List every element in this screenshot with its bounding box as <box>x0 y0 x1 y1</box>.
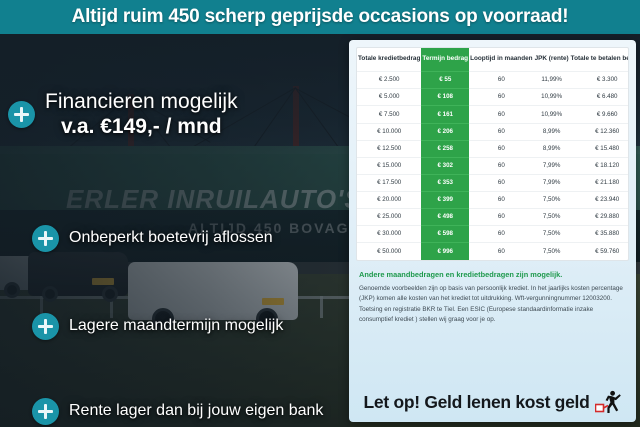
table-cell: 60 <box>469 72 533 89</box>
table-cell: € 996 <box>421 243 469 260</box>
benefits-list: Financieren mogelijk v.a. €149,- / mnd O… <box>0 68 350 427</box>
header-duration: Looptijd in maanden <box>469 48 533 72</box>
table-cell: 7,50% <box>534 192 570 209</box>
table-cell: € 25.000 <box>357 209 421 226</box>
table-cell: € 29.880 <box>570 209 629 226</box>
loan-table: Totale kredietbedrag Termijn bedrag Loop… <box>357 48 629 260</box>
table-cell: € 50.000 <box>357 243 421 260</box>
table-cell: 60 <box>469 123 533 140</box>
table-cell: € 7.500 <box>357 106 421 123</box>
header-total-credit: Totale kredietbedrag <box>357 48 421 72</box>
table-row: € 5.000€ 1086010,99%€ 6.480 <box>357 89 629 106</box>
benefit-label: Lagere maandtermijn mogelijk <box>69 317 283 336</box>
note-heading: Andere maandbedragen en kredietbedragen … <box>359 270 626 280</box>
benefit-item-lower-monthly: Lagere maandtermijn mogelijk <box>32 313 283 340</box>
loan-table-container: Totale kredietbedrag Termijn bedrag Loop… <box>356 47 629 261</box>
table-row: € 12.500€ 258608,99%€ 15.480 <box>357 140 629 157</box>
table-cell: € 2.500 <box>357 72 421 89</box>
loan-info-card: Totale kredietbedrag Termijn bedrag Loop… <box>349 40 636 422</box>
table-cell: € 20.000 <box>357 192 421 209</box>
table-row: € 7.500€ 1616010,99%€ 9.660 <box>357 106 629 123</box>
table-cell: 8,99% <box>534 140 570 157</box>
promo-banner: Altijd ruim 450 scherp geprijsde occasio… <box>0 0 640 34</box>
table-cell: € 3.300 <box>570 72 629 89</box>
table-cell: 7,99% <box>534 157 570 174</box>
table-cell: 60 <box>469 209 533 226</box>
table-cell: 11,99% <box>534 72 570 89</box>
header-total-payable: Totale te betalen bedrag <box>570 48 629 72</box>
benefit-item-lower-rate: Rente lager dan bij jouw eigen bank <box>32 398 323 425</box>
table-cell: 7,50% <box>534 209 570 226</box>
benefit-label: Rente lager dan bij jouw eigen bank <box>69 402 323 421</box>
legal-warning-text: Let op! Geld lenen kost geld <box>364 392 590 413</box>
table-cell: 60 <box>469 243 533 260</box>
legal-warning: Let op! Geld lenen kost geld <box>356 390 629 414</box>
benefit-line-1: Financieren mogelijk <box>45 90 238 115</box>
table-cell: € 6.480 <box>570 89 629 106</box>
table-cell: € 12.360 <box>570 123 629 140</box>
loan-table-head: Totale kredietbedrag Termijn bedrag Loop… <box>357 48 629 72</box>
table-cell: € 302 <box>421 157 469 174</box>
benefit-label: Financieren mogelijk v.a. €149,- / mnd <box>45 90 238 140</box>
man-pulling-block-icon <box>595 390 621 414</box>
table-cell: 60 <box>469 157 533 174</box>
table-cell: € 5.000 <box>357 89 421 106</box>
table-cell: € 12.500 <box>357 140 421 157</box>
table-cell: € 161 <box>421 106 469 123</box>
plus-icon <box>32 398 59 425</box>
table-cell: 10,99% <box>534 106 570 123</box>
table-cell: € 108 <box>421 89 469 106</box>
benefit-line-2: v.a. €149,- / mnd <box>45 115 238 140</box>
table-row: € 50.000€ 996607,50%€ 59.760 <box>357 243 629 260</box>
table-cell: € 10.000 <box>357 123 421 140</box>
table-cell: 60 <box>469 89 533 106</box>
note-body: Genoemde voorbeelden zijn op basis van p… <box>359 284 626 325</box>
table-cell: € 21.180 <box>570 174 629 191</box>
table-row: € 10.000€ 206608,99%€ 12.360 <box>357 123 629 140</box>
table-cell: € 30.000 <box>357 226 421 243</box>
table-cell: 10,99% <box>534 89 570 106</box>
table-row: € 2.500€ 556011,99%€ 3.300 <box>357 72 629 89</box>
loan-table-header-row: Totale kredietbedrag Termijn bedrag Loop… <box>357 48 629 72</box>
table-row: € 30.000€ 598607,50%€ 35.880 <box>357 226 629 243</box>
table-cell: 8,99% <box>534 123 570 140</box>
table-cell: 7,99% <box>534 174 570 191</box>
table-cell: € 15.480 <box>570 140 629 157</box>
table-cell: € 15.000 <box>357 157 421 174</box>
table-cell: € 17.500 <box>357 174 421 191</box>
promo-banner-text: Altijd ruim 450 scherp geprijsde occasio… <box>72 6 569 28</box>
table-row: € 15.000€ 302607,99%€ 18.120 <box>357 157 629 174</box>
table-cell: 60 <box>469 192 533 209</box>
table-cell: € 55 <box>421 72 469 89</box>
table-cell: € 598 <box>421 226 469 243</box>
table-cell: 7,50% <box>534 226 570 243</box>
table-row: € 17.500€ 353607,99%€ 21.180 <box>357 174 629 191</box>
table-cell: € 498 <box>421 209 469 226</box>
benefit-item-penalty-free: Onbeperkt boetevrij aflossen <box>32 225 273 252</box>
benefit-item-financing: Financieren mogelijk v.a. €149,- / mnd <box>8 90 238 140</box>
table-cell: 60 <box>469 140 533 157</box>
table-cell: € 258 <box>421 140 469 157</box>
table-row: € 20.000€ 399607,50%€ 23.940 <box>357 192 629 209</box>
plus-icon <box>32 225 59 252</box>
table-cell: € 399 <box>421 192 469 209</box>
table-cell: € 23.940 <box>570 192 629 209</box>
table-cell: 7,50% <box>534 243 570 260</box>
table-row: € 25.000€ 498607,50%€ 29.880 <box>357 209 629 226</box>
table-cell: € 353 <box>421 174 469 191</box>
header-term-amount: Termijn bedrag <box>421 48 469 72</box>
plus-icon <box>32 313 59 340</box>
table-cell: 60 <box>469 226 533 243</box>
table-cell: € 35.880 <box>570 226 629 243</box>
table-cell: 60 <box>469 106 533 123</box>
plus-icon <box>8 101 35 128</box>
loan-table-body: € 2.500€ 556011,99%€ 3.300€ 5.000€ 10860… <box>357 72 629 260</box>
table-cell: € 9.660 <box>570 106 629 123</box>
table-cell: € 206 <box>421 123 469 140</box>
header-apr: JPK (rente) <box>534 48 570 72</box>
table-cell: € 59.760 <box>570 243 629 260</box>
table-cell: € 18.120 <box>570 157 629 174</box>
benefit-label: Onbeperkt boetevrij aflossen <box>69 229 273 248</box>
table-cell: 60 <box>469 174 533 191</box>
